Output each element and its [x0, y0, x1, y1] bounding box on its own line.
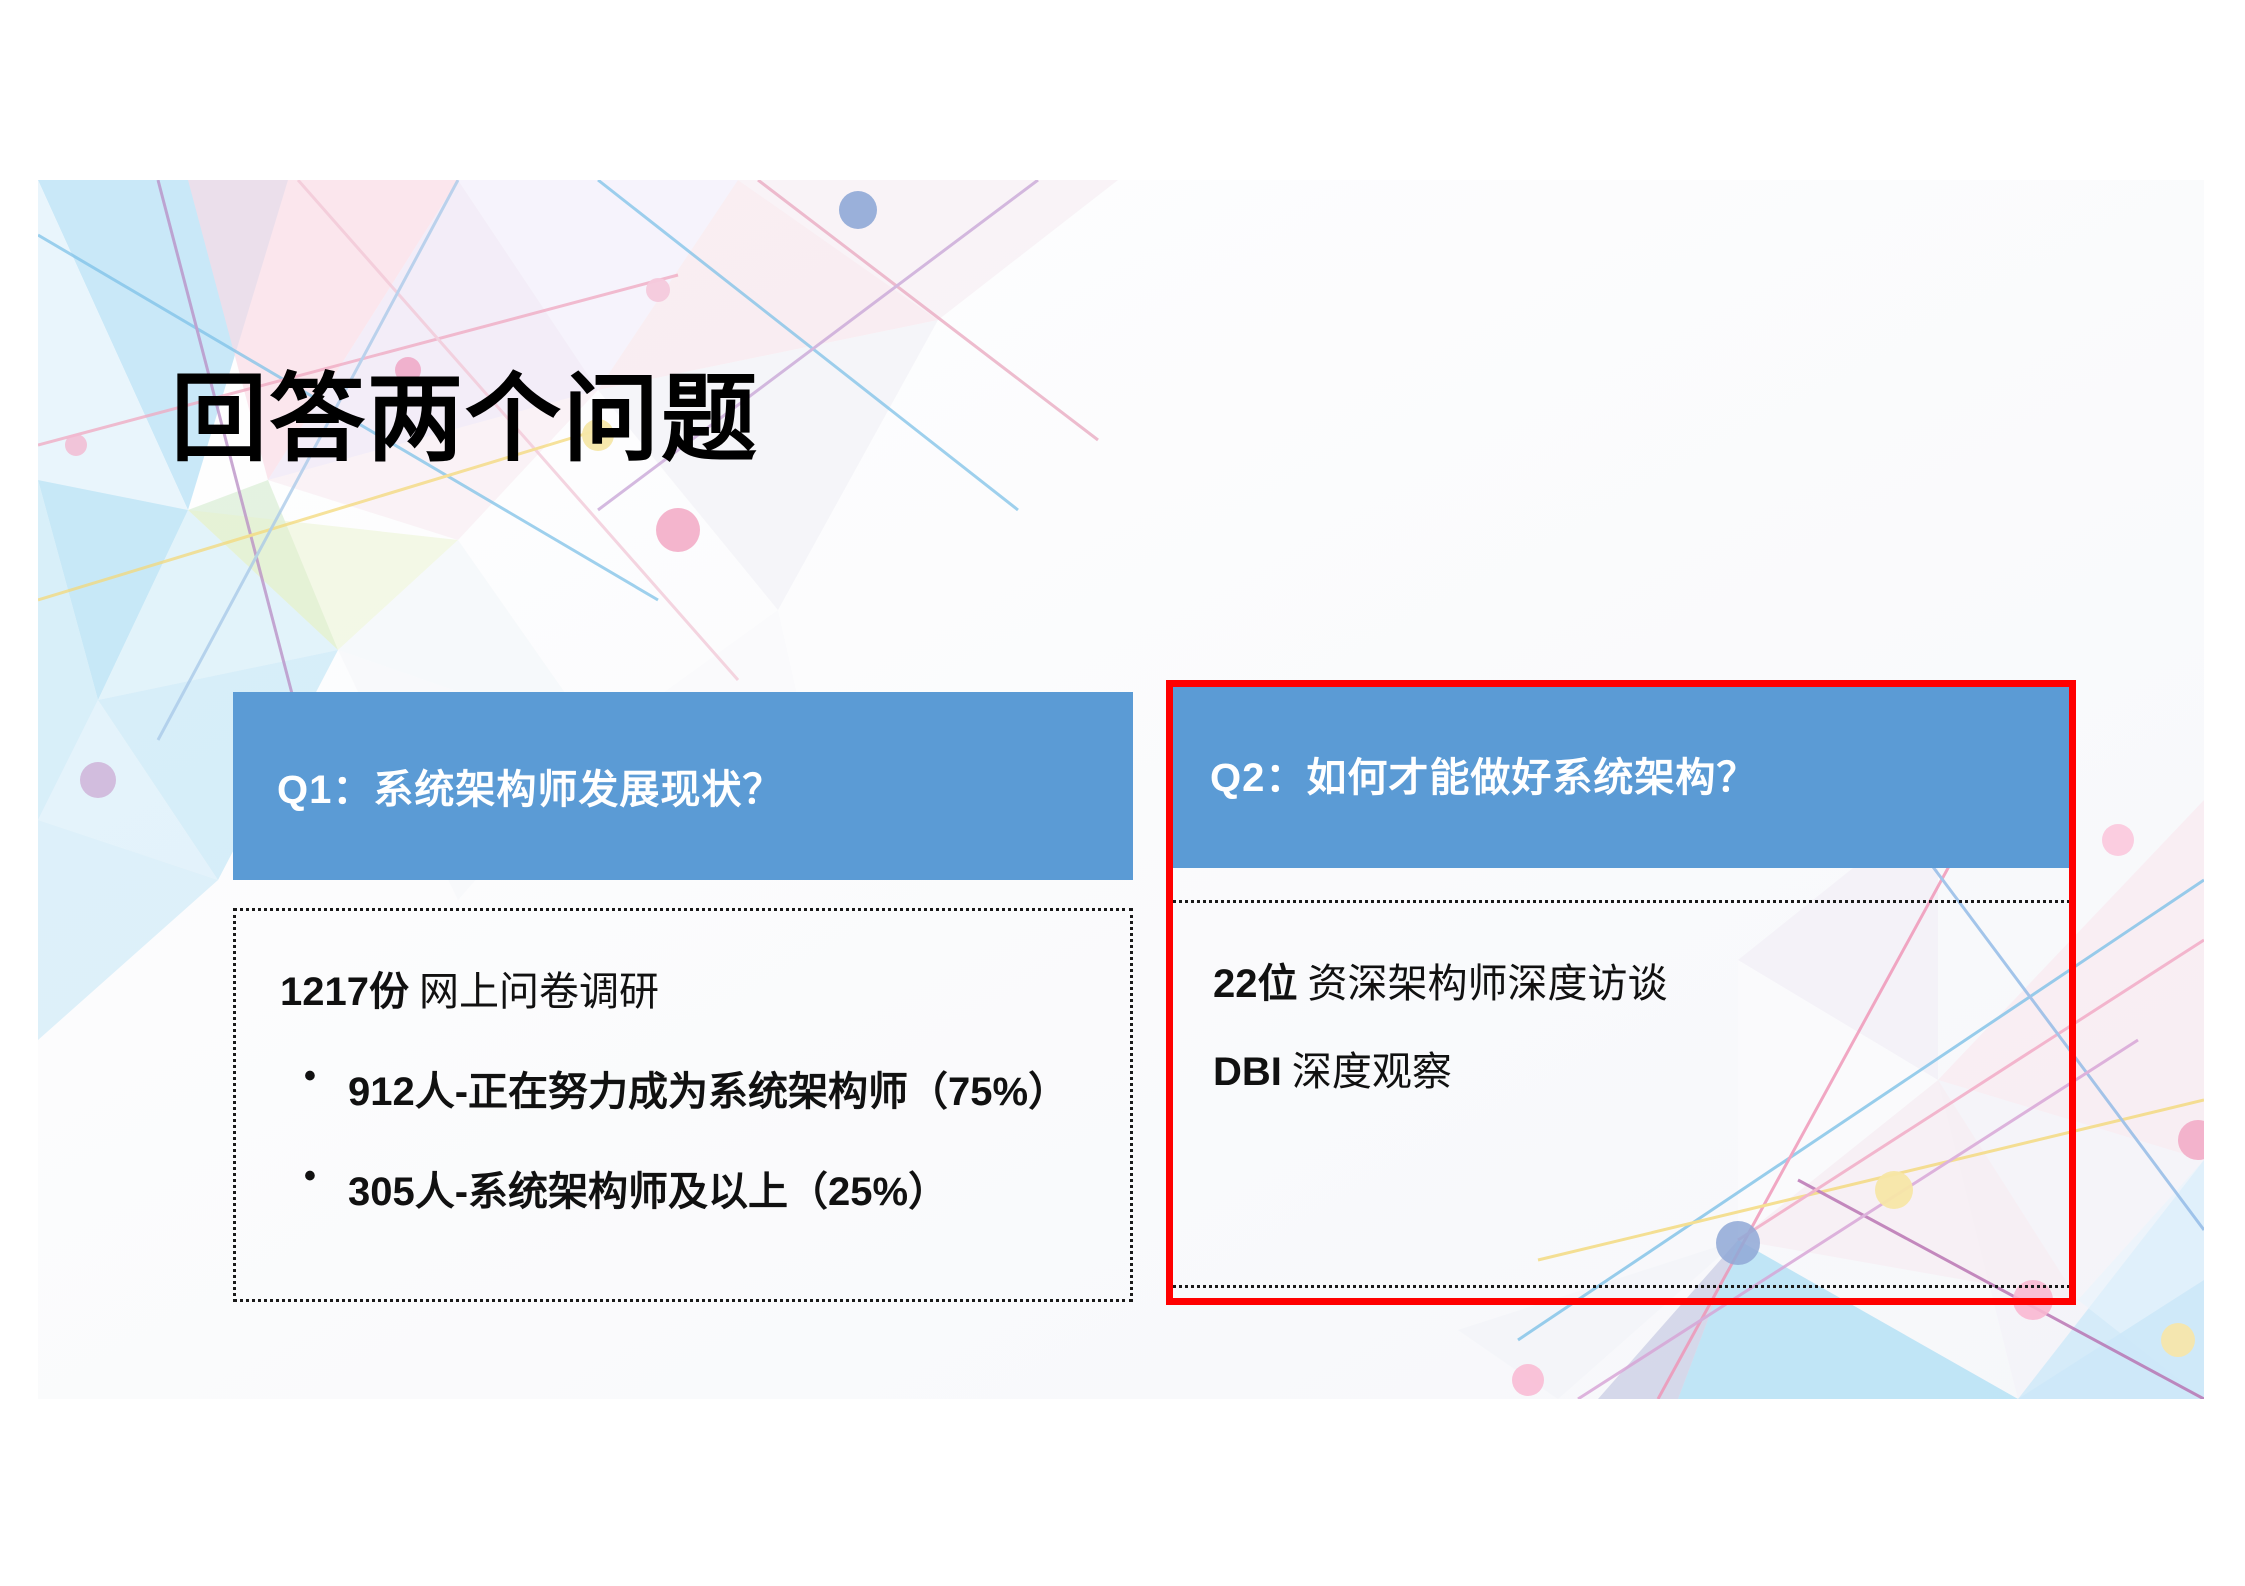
q2-body: 22位资深架构师深度访谈 DBI深度观察: [1166, 900, 2076, 1288]
q1-header-label: Q1：系统架构师发展现状？: [277, 757, 783, 815]
question-card-q2: Q2：如何才能做好系统架构？ 22位资深架构师深度访谈 DBI深度观察: [1166, 680, 2076, 1288]
q2-lead-text: 资深架构师深度访谈: [1308, 962, 1668, 1006]
slide-canvas: 回答两个问题 Q1：系统架构师发展现状？ 1217份网上问卷调研 912人-正在…: [38, 180, 2204, 1399]
q2-lead-number: 22位: [1213, 962, 1298, 1006]
q2-header-bar: Q2：如何才能做好系统架构？: [1166, 680, 2076, 868]
q2-lead-line: 22位资深架构师深度访谈: [1213, 959, 2029, 1009]
question-card-q1: Q1：系统架构师发展现状？ 1217份网上问卷调研 912人-正在努力成为系统架…: [233, 692, 1133, 1302]
page-title: 回答两个问题: [171, 370, 759, 471]
q1-bullet-list: 912人-正在努力成为系统架构师（75%） 305人-系统架构师及以上（25%）: [280, 1059, 1086, 1217]
q2-second-line: DBI深度观察: [1213, 1047, 2029, 1097]
q2-header-label: Q2：如何才能做好系统架构？: [1210, 745, 1757, 803]
q1-body: 1217份网上问卷调研 912人-正在努力成为系统架构师（75%） 305人-系…: [233, 908, 1133, 1302]
q1-lead-line: 1217份网上问卷调研: [280, 967, 1086, 1017]
q2-second-text: 深度观察: [1292, 1050, 1452, 1094]
q1-bullet-2: 305人-系统架构师及以上（25%）: [280, 1159, 1086, 1217]
q1-header-bar: Q1：系统架构师发展现状？: [233, 692, 1133, 880]
q1-lead-number: 1217份: [280, 970, 409, 1014]
q1-lead-text: 网上问卷调研: [419, 970, 659, 1014]
q1-bullet-1: 912人-正在努力成为系统架构师（75%）: [280, 1059, 1086, 1117]
q2-second-number: DBI: [1213, 1050, 1282, 1094]
